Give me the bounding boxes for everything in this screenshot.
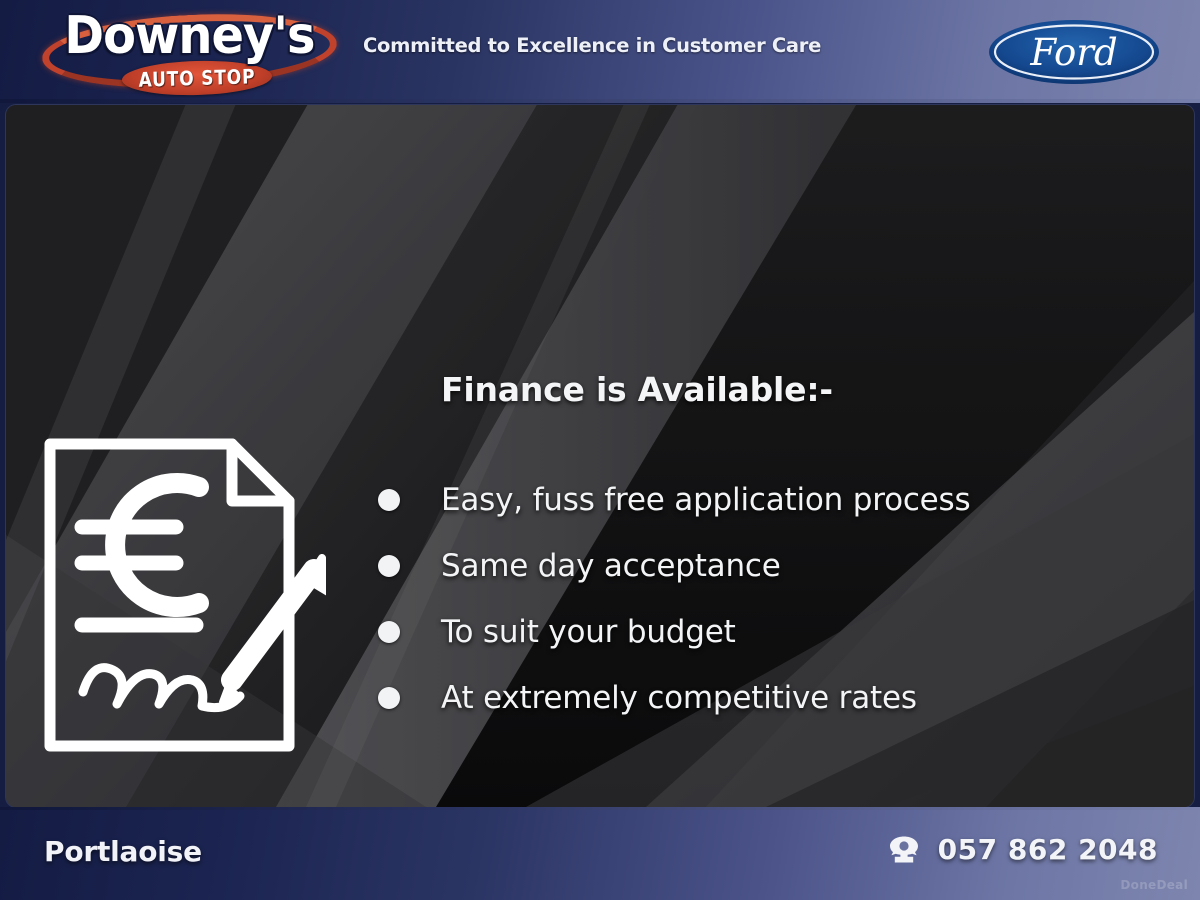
tagline: Committed to Excellence in Customer Care [363,34,821,57]
contact-phone[interactable]: 057 862 2048 [887,833,1158,866]
advertisement-banner: Downey's AUTO STOP Committed to Excellen… [0,0,1200,900]
header-bar: Downey's AUTO STOP Committed to Excellen… [0,0,1200,103]
euro-document-signature-icon [36,430,326,760]
svg-text:Ford: Ford [1029,31,1117,74]
phone-number: 057 862 2048 [938,833,1158,866]
branch-location: Portlaoise [44,835,202,868]
telephone-icon [887,835,921,865]
downeys-auto-stop-logo[interactable]: Downey's AUTO STOP [42,3,337,99]
benefits-list: Easy, fuss free application process Same… [378,467,1178,731]
list-item: Easy, fuss free application process [378,467,1178,533]
list-item-label: At extremely competitive rates [441,680,917,716]
page-title: Finance is Available:- [441,370,833,409]
list-item-label: Easy, fuss free application process [441,482,970,518]
bullet-dot-icon [378,621,400,643]
main-panel: Finance is Available:- Easy, fuss free a… [6,105,1194,807]
logo-brand-name: Downey's [54,5,325,67]
list-item: Same day acceptance [378,533,1178,599]
list-item-label: To suit your budget [441,614,736,650]
source-watermark: DoneDeal [1120,878,1188,892]
bullet-dot-icon [378,489,400,511]
bullet-dot-icon [378,555,400,577]
ford-logo[interactable]: Ford [988,19,1160,85]
list-item: To suit your budget [378,599,1178,665]
list-item: At extremely competitive rates [378,665,1178,731]
logo-sub-name: AUTO STOP [133,61,261,95]
bullet-dot-icon [378,687,400,709]
list-item-label: Same day acceptance [441,548,781,584]
